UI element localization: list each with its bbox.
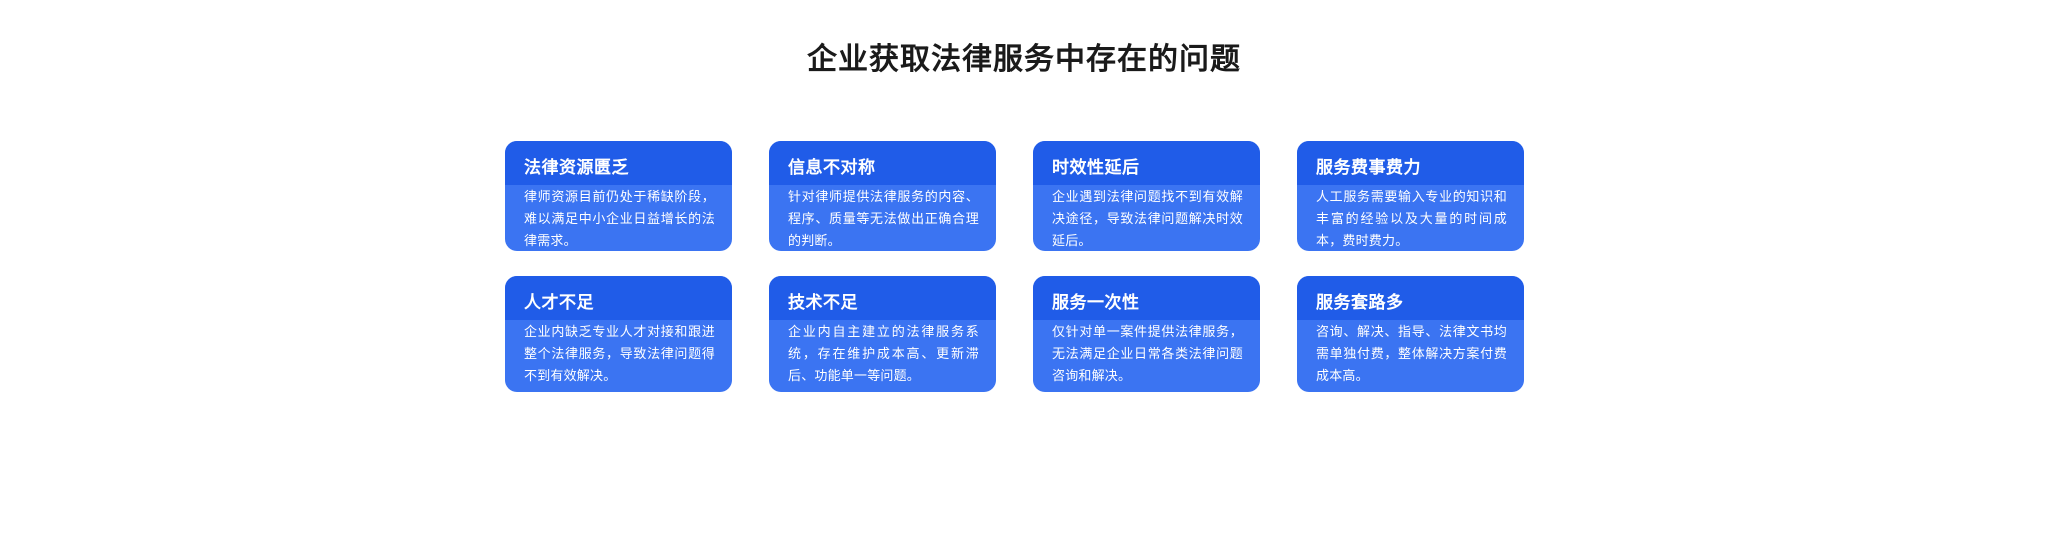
problem-card-5[interactable]: 人才不足 企业内缺乏专业人才对接和跟进整个法律服务，导致法律问题得不到有效解决。: [505, 276, 732, 392]
problem-card-6-body: 企业内自主建立的法律服务系统，存在维护成本高、更新滞后、功能单一等问题。: [769, 313, 996, 387]
problem-card-6[interactable]: 技术不足 企业内自主建立的法律服务系统，存在维护成本高、更新滞后、功能单一等问题…: [769, 276, 996, 392]
problem-card-3-title: 时效性延后: [1033, 141, 1260, 178]
problem-card-4[interactable]: 服务费事费力 人工服务需要输入专业的知识和丰富的经验以及大量的时间成本，费时费力…: [1297, 141, 1524, 251]
card-row-top: 法律资源匮乏 律师资源目前仍处于稀缺阶段，难以满足中小企业日益增长的法律需求。 …: [505, 141, 1526, 251]
problem-card-grid: 法律资源匮乏 律师资源目前仍处于稀缺阶段，难以满足中小企业日益增长的法律需求。 …: [505, 141, 1526, 392]
problem-card-8[interactable]: 服务套路多 咨询、解决、指导、法律文书均需单独付费，整体解决方案付费成本高。: [1297, 276, 1524, 392]
problem-card-1[interactable]: 法律资源匮乏 律师资源目前仍处于稀缺阶段，难以满足中小企业日益增长的法律需求。: [505, 141, 732, 251]
problem-card-7[interactable]: 服务一次性 仅针对单一案件提供法律服务，无法满足企业日常各类法律问题咨询和解决。: [1033, 276, 1260, 392]
problem-card-6-title: 技术不足: [769, 276, 996, 313]
problem-card-2-title: 信息不对称: [769, 141, 996, 178]
problem-card-3[interactable]: 时效性延后 企业遇到法律问题找不到有效解决途径，导致法律问题解决时效延后。: [1033, 141, 1260, 251]
problem-card-2-body: 针对律师提供法律服务的内容、程序、质量等无法做出正确合理的判断。: [769, 178, 996, 251]
problem-card-2[interactable]: 信息不对称 针对律师提供法律服务的内容、程序、质量等无法做出正确合理的判断。: [769, 141, 996, 251]
page-root: 企业获取法律服务中存在的问题 法律资源匮乏 律师资源目前仍处于稀缺阶段，难以满足…: [0, 0, 2048, 541]
problem-card-7-title: 服务一次性: [1033, 276, 1260, 313]
problem-card-4-title: 服务费事费力: [1297, 141, 1524, 178]
problem-card-3-body: 企业遇到法律问题找不到有效解决途径，导致法律问题解决时效延后。: [1033, 178, 1260, 251]
problem-card-7-body: 仅针对单一案件提供法律服务，无法满足企业日常各类法律问题咨询和解决。: [1033, 313, 1260, 387]
problem-card-5-title: 人才不足: [505, 276, 732, 313]
problem-card-4-body: 人工服务需要输入专业的知识和丰富的经验以及大量的时间成本，费时费力。: [1297, 178, 1524, 251]
problem-card-8-title: 服务套路多: [1297, 276, 1524, 313]
problem-card-1-title: 法律资源匮乏: [505, 141, 732, 178]
problem-card-8-body: 咨询、解决、指导、法律文书均需单独付费，整体解决方案付费成本高。: [1297, 313, 1524, 387]
problem-card-5-body: 企业内缺乏专业人才对接和跟进整个法律服务，导致法律问题得不到有效解决。: [505, 313, 732, 387]
card-row-bottom: 人才不足 企业内缺乏专业人才对接和跟进整个法律服务，导致法律问题得不到有效解决。…: [505, 276, 1526, 392]
problem-card-1-body: 律师资源目前仍处于稀缺阶段，难以满足中小企业日益增长的法律需求。: [505, 178, 732, 251]
page-title: 企业获取法律服务中存在的问题: [0, 40, 2048, 80]
